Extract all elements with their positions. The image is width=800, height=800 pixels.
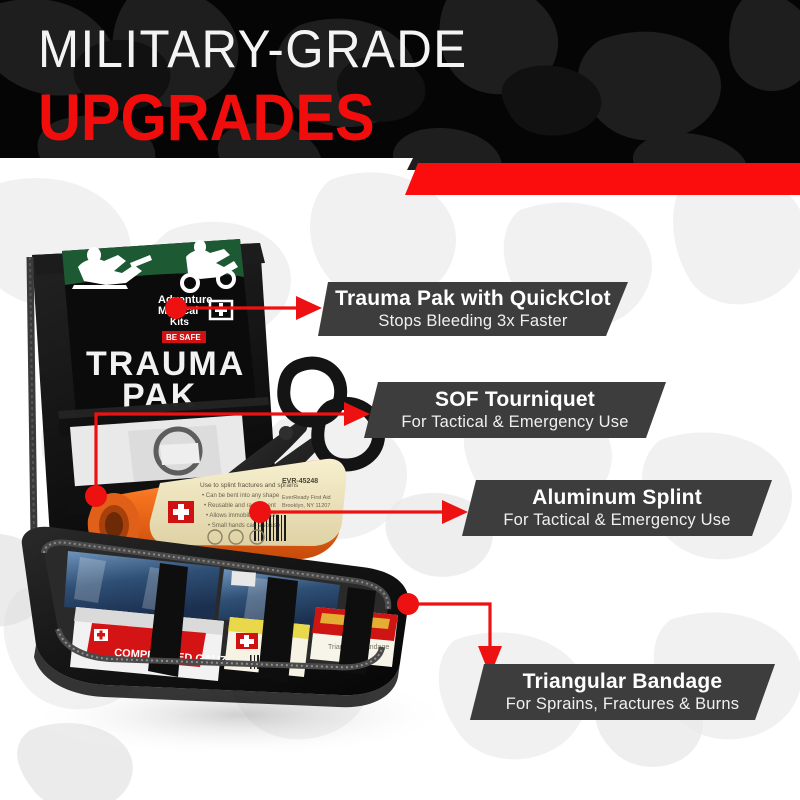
header-title-group: MILITARY-GRADE UPGRADES [38,22,500,150]
page-subtitle: UPGRADES [38,84,454,150]
infographic-page: MILITARY-GRADE UPGRADES [0,0,800,800]
callout-title: SOF Tourniquet [435,388,595,412]
trauma-pak-pouch: Adventure Medical Kits BE SAFE TRAUMA PA… [62,239,256,415]
svg-text:• Reusable and radiolucent: • Reusable and radiolucent [204,503,276,509]
white-wedge-divider [0,158,430,172]
svg-text:• Can be bent into any shape: • Can be bent into any shape [202,493,280,499]
callout-title: Trauma Pak with QuickClot [335,287,611,311]
callout-triangular-bandage[interactable]: Triangular Bandage For Sprains, Fracture… [470,664,775,720]
header-banner: MILITARY-GRADE UPGRADES [0,0,800,172]
callout-subtitle: Stops Bleeding 3x Faster [378,311,567,331]
splint-code-label: EVR-45248 [282,478,318,485]
callout-aluminum-splint[interactable]: Aluminum Splint For Tactical & Emergency… [462,480,772,536]
callout-trauma-pak[interactable]: Trauma Pak with QuickClot Stops Bleeding… [318,282,628,336]
callout-subtitle: For Tactical & Emergency Use [503,510,730,530]
page-title: MILITARY-GRADE [38,22,467,78]
callout-title: Aluminum Splint [532,486,702,510]
svg-text:Brooklyn, NY 11207: Brooklyn, NY 11207 [282,503,330,509]
svg-text:• Allows immobilizing easily: • Allows immobilizing easily [206,513,278,519]
pouch-badge: BE SAFE [166,333,201,342]
pouch-brand-line3: Kits [170,317,189,328]
red-accent-bar [405,163,800,195]
callout-subtitle: For Sprains, Fractures & Burns [506,694,739,714]
svg-text:EverReady First Aid: EverReady First Aid [282,495,331,501]
pouch-brand-line2: Medical [158,305,198,317]
callout-subtitle: For Tactical & Emergency Use [401,412,628,432]
callout-sof-tourniquet[interactable]: SOF Tourniquet For Tactical & Emergency … [364,382,666,438]
callout-title: Triangular Bandage [523,670,723,694]
